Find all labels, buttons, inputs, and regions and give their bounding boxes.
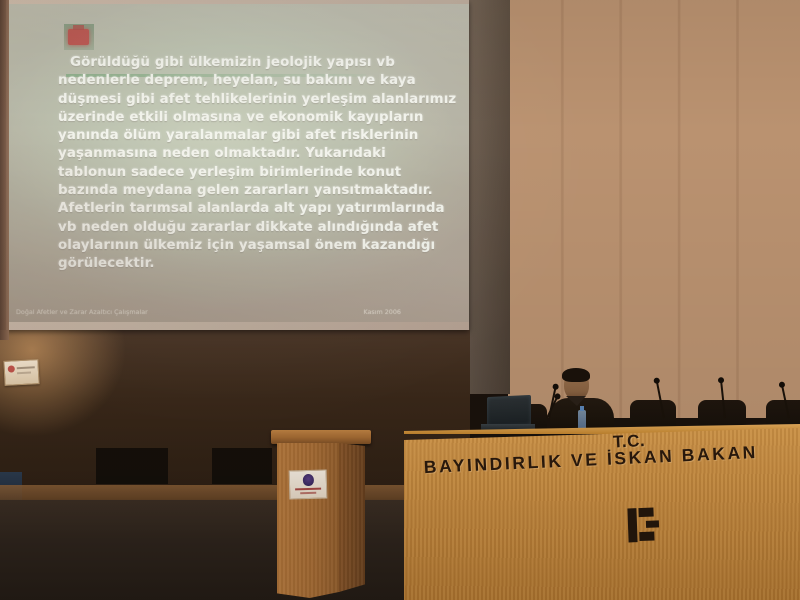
conference-hall-photo: Görüldüğü gibi ülkemizin jeolojik yapısı… bbox=[0, 0, 800, 600]
podium-side-panel bbox=[339, 443, 365, 595]
slide-body-text: Görüldüğü gibi ülkemizin jeolojik yapısı… bbox=[58, 54, 458, 274]
slide-emblem-icon bbox=[64, 24, 94, 50]
seal-crest bbox=[303, 474, 314, 486]
wall-dark-column bbox=[468, 0, 510, 394]
slide-footer-left: Doğal Afetler ve Zarar Azaltıcı Çalışmal… bbox=[16, 308, 148, 316]
head-table bbox=[404, 428, 800, 600]
projected-slide: Görüldüğü gibi ülkemizin jeolojik yapısı… bbox=[8, 4, 469, 322]
slide-footer: Doğal Afetler ve Zarar Azaltıcı Çalışmal… bbox=[16, 308, 461, 316]
placard-text-lines bbox=[17, 366, 35, 369]
projection-screen: Görüldüğü gibi ülkemizin jeolojik yapısı… bbox=[6, 0, 469, 330]
screen-left-frame bbox=[0, 0, 9, 340]
podium-front-panel bbox=[277, 443, 340, 598]
seal-caption-lines bbox=[295, 488, 321, 491]
speaker-hair bbox=[562, 368, 590, 382]
wall-notice-sign bbox=[3, 359, 39, 386]
wall-vent-left bbox=[96, 448, 168, 484]
placard-seal-icon bbox=[8, 365, 15, 372]
slide-paragraph: Görüldüğü gibi ülkemizin jeolojik yapısı… bbox=[58, 54, 458, 274]
presentation-laptop-screen bbox=[487, 395, 531, 427]
slide-footer-right: Kasım 2006 bbox=[363, 308, 401, 316]
ministry-emblem-icon bbox=[627, 508, 654, 543]
right-wall-panels bbox=[508, 0, 800, 418]
podium-top-surface bbox=[271, 430, 371, 444]
speaker-podium bbox=[277, 430, 365, 600]
institution-seal-icon bbox=[289, 470, 328, 500]
wall-vent-right bbox=[212, 448, 272, 484]
